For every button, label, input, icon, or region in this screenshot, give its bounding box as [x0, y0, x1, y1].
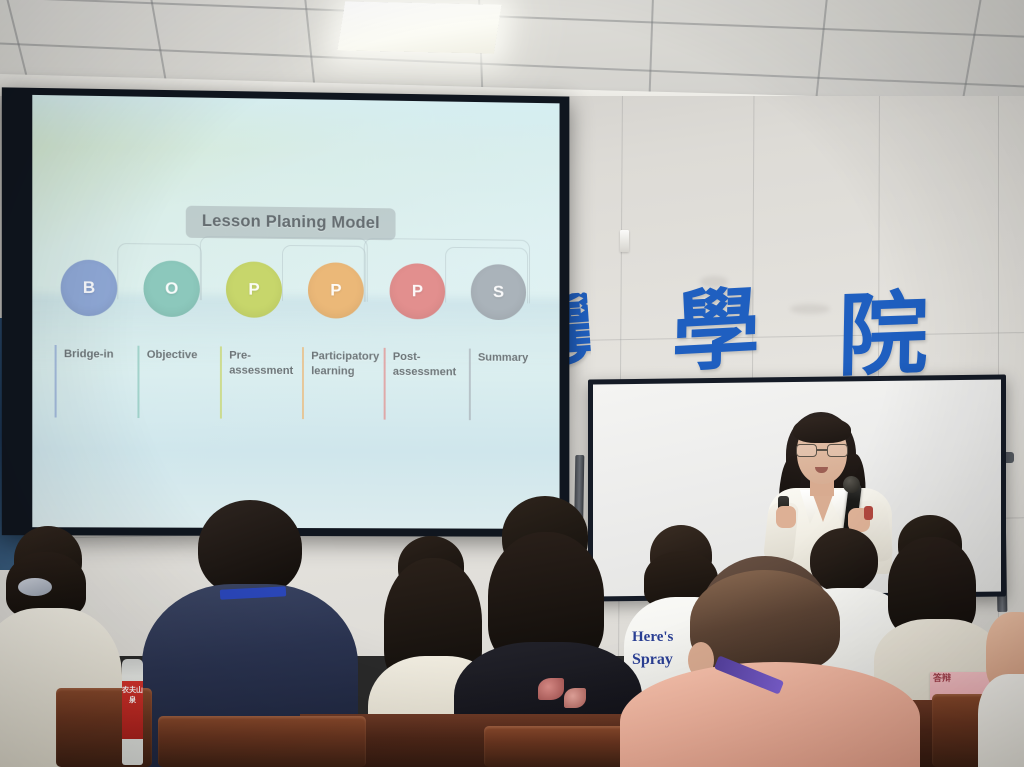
- presenter-hand-left: [776, 506, 796, 528]
- label-line: Bridge-in: [64, 347, 114, 362]
- slide-label-post-assessment: Post- assessment: [384, 348, 457, 420]
- slide-node-letter: B: [83, 278, 95, 298]
- attendee-head: [198, 500, 302, 596]
- slide-node-letter: S: [493, 282, 504, 302]
- slide-label-objective: Objective: [137, 346, 197, 419]
- lecture-hall-photo: 覺 學 院: [0, 0, 1024, 767]
- ceiling-light-panel: [337, 1, 501, 53]
- slide-label-summary: Summary: [469, 349, 528, 421]
- attendee-pink-blazer: [626, 556, 926, 767]
- slide: Lesson Planing Model B O: [32, 95, 559, 529]
- slide-node-letter: O: [165, 279, 178, 299]
- slide-node-p2: P: [308, 262, 364, 318]
- slide-node-p3: P: [390, 263, 446, 319]
- label-line: assessment: [229, 363, 293, 378]
- label-line: Post-: [393, 350, 456, 365]
- label-line: learning: [311, 364, 379, 379]
- presenter-wristband: [864, 506, 873, 520]
- label-line: Objective: [147, 348, 198, 363]
- slide-node-letter: P: [412, 281, 423, 301]
- slide-node-s: S: [471, 264, 526, 320]
- bottle-label: 农夫山泉: [122, 681, 143, 739]
- floral-motif: [564, 688, 586, 708]
- slide-node-o: O: [144, 260, 200, 317]
- water-bottle: 农夫山泉: [122, 659, 143, 765]
- projection-screen: Lesson Planing Model B O: [2, 87, 570, 536]
- slide-nodes: B O P P P S: [32, 259, 559, 326]
- slide-node-letter: P: [248, 280, 259, 300]
- label-line: Pre-: [229, 348, 293, 363]
- label-line: assessment: [393, 364, 456, 379]
- slide-node-letter: P: [330, 280, 341, 300]
- slide-labels: Bridge-in Objective: [32, 345, 559, 431]
- slide-node-b: B: [61, 259, 118, 316]
- slide-label-pre-assessment: Pre- assessment: [220, 346, 293, 419]
- label-line: Summary: [478, 351, 528, 366]
- wall-sensor: [620, 230, 629, 252]
- presenter-fringe: [793, 417, 851, 443]
- chair: [158, 716, 366, 767]
- attendee-foreground-right: [986, 612, 1024, 767]
- wall-calligraphy-xue: 學: [671, 284, 760, 377]
- label-line: Participatory: [311, 349, 379, 364]
- slide-label-participatory-learning: Participatory learning: [302, 347, 379, 419]
- attendee-torso: [978, 674, 1024, 767]
- wall-calligraphy-yuan: 院: [837, 288, 929, 381]
- chair: [484, 726, 634, 767]
- slide-label-bridge-in: Bridge-in: [55, 345, 114, 418]
- glasses-icon: [796, 444, 848, 457]
- floral-motif: [538, 678, 564, 700]
- slide-node-p1: P: [226, 261, 282, 318]
- hair-clip-icon: [18, 578, 52, 596]
